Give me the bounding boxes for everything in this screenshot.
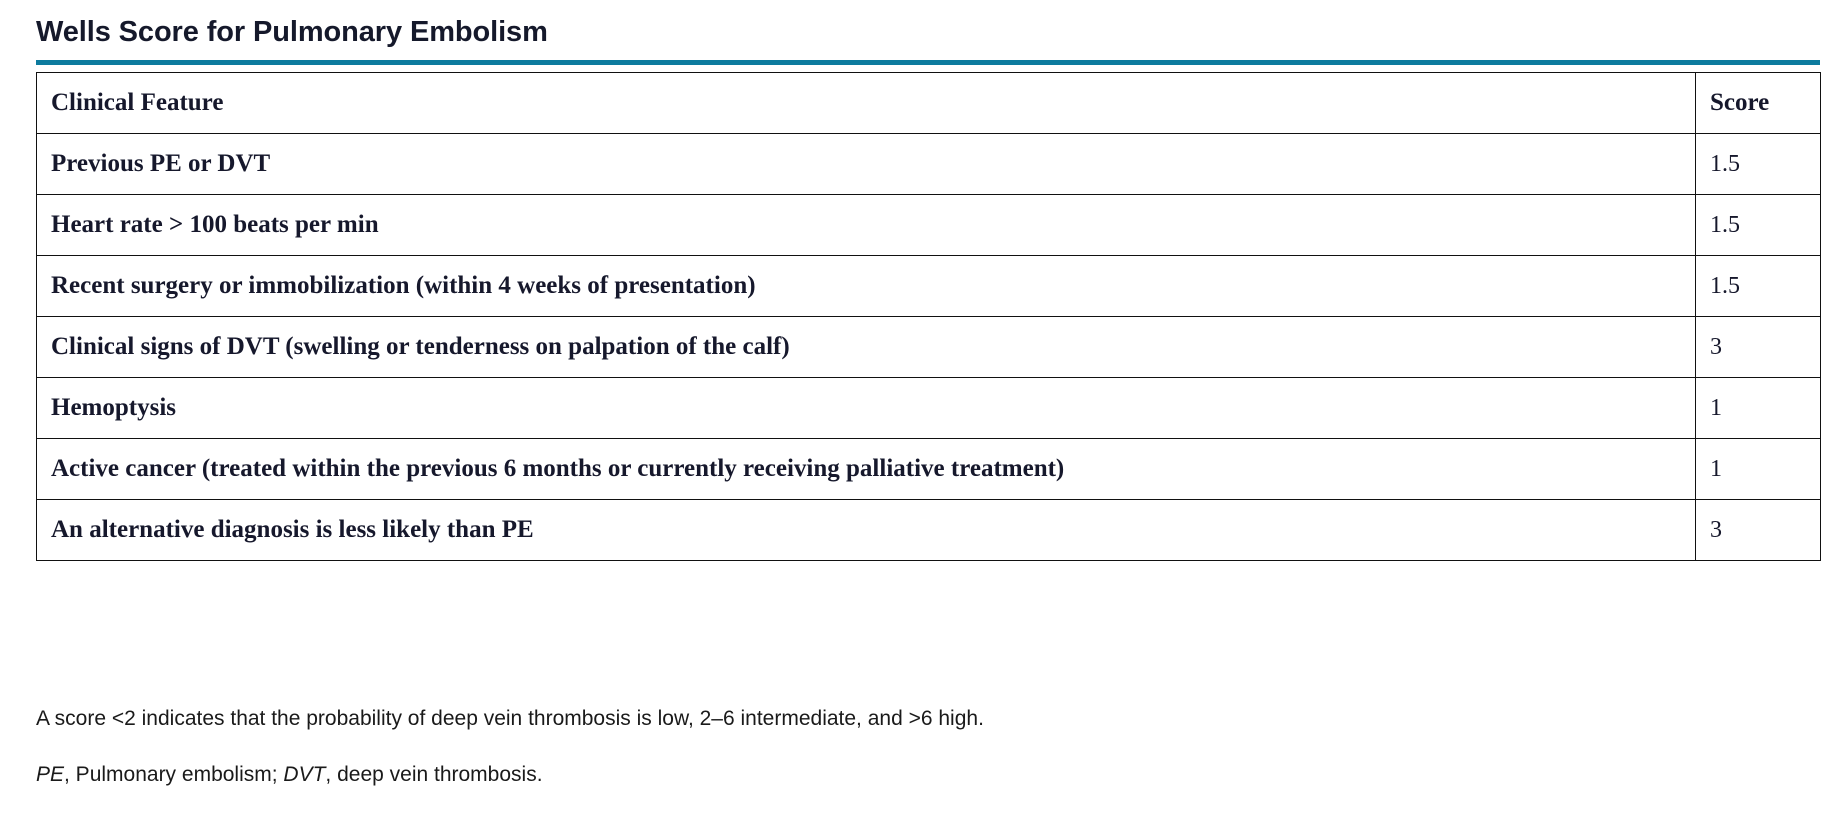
footnotes-block: A score <2 indicates that the probabilit…	[36, 705, 1820, 788]
cell-clinical-feature: Recent surgery or immobilization (within…	[37, 256, 1696, 317]
wells-score-table-page: Wells Score for Pulmonary Embolism Clini…	[0, 0, 1846, 828]
cell-score: 1.5	[1696, 195, 1821, 256]
cell-clinical-feature: Heart rate > 100 beats per min	[37, 195, 1696, 256]
table-row: Hemoptysis 1	[37, 378, 1821, 439]
abbreviation-dvt: DVT	[283, 763, 325, 786]
cell-clinical-feature: Previous PE or DVT	[37, 134, 1696, 195]
wells-score-table: Clinical Feature Score Previous PE or DV…	[36, 72, 1821, 561]
title-accent-rule	[36, 60, 1820, 65]
table-row: An alternative diagnosis is less likely …	[37, 500, 1821, 561]
footnote-abbreviations: PE, Pulmonary embolism; DVT, deep vein t…	[36, 761, 1820, 788]
table-header-row: Clinical Feature Score	[37, 73, 1821, 134]
page-title: Wells Score for Pulmonary Embolism	[36, 14, 1820, 50]
cell-clinical-feature: Clinical signs of DVT (swelling or tende…	[37, 317, 1696, 378]
table-row: Heart rate > 100 beats per min 1.5	[37, 195, 1821, 256]
cell-clinical-feature: Hemoptysis	[37, 378, 1696, 439]
column-header-score: Score	[1696, 73, 1821, 134]
cell-score: 1.5	[1696, 134, 1821, 195]
table-container: Clinical Feature Score Previous PE or DV…	[36, 72, 1820, 561]
cell-score: 3	[1696, 500, 1821, 561]
abbreviation-pe-expansion: , Pulmonary embolism;	[64, 763, 283, 786]
cell-clinical-feature: An alternative diagnosis is less likely …	[37, 500, 1696, 561]
abbreviation-dvt-expansion: , deep vein thrombosis.	[325, 763, 542, 786]
title-block: Wells Score for Pulmonary Embolism	[36, 14, 1820, 65]
table-header: Clinical Feature Score	[37, 73, 1821, 134]
cell-score: 1	[1696, 378, 1821, 439]
column-header-clinical-feature: Clinical Feature	[37, 73, 1696, 134]
table-row: Active cancer (treated within the previo…	[37, 439, 1821, 500]
cell-score: 3	[1696, 317, 1821, 378]
table-body: Previous PE or DVT 1.5 Heart rate > 100 …	[37, 134, 1821, 561]
abbreviation-pe: PE	[36, 763, 64, 786]
cell-score: 1	[1696, 439, 1821, 500]
table-row: Previous PE or DVT 1.5	[37, 134, 1821, 195]
cell-score: 1.5	[1696, 256, 1821, 317]
table-row: Clinical signs of DVT (swelling or tende…	[37, 317, 1821, 378]
footnote-interpretation: A score <2 indicates that the probabilit…	[36, 705, 1820, 732]
table-row: Recent surgery or immobilization (within…	[37, 256, 1821, 317]
cell-clinical-feature: Active cancer (treated within the previo…	[37, 439, 1696, 500]
